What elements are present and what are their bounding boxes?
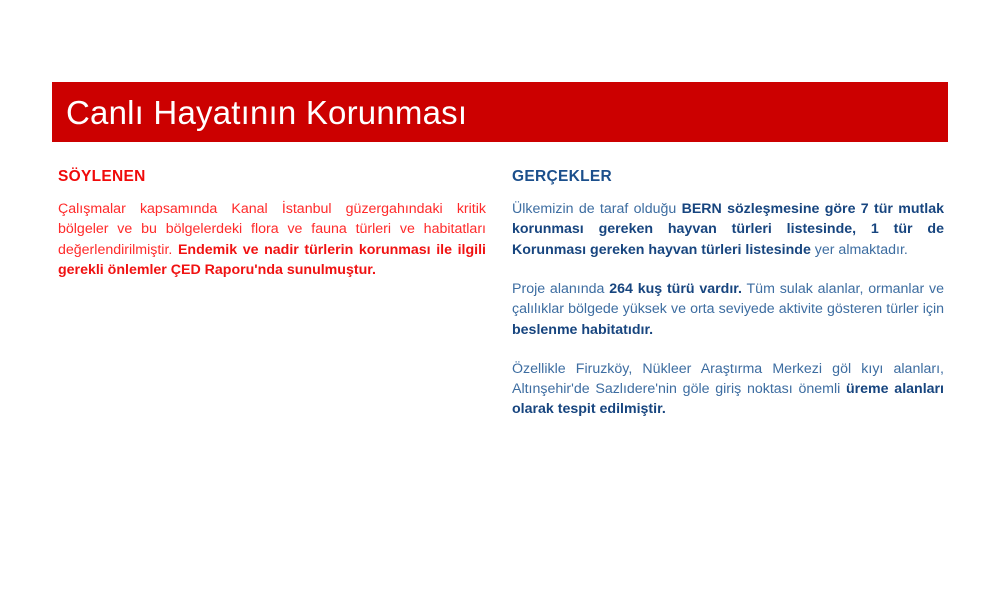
- text-run-bold: beslenme habitatıdır.: [512, 322, 653, 338]
- text-run: yer almaktadır.: [811, 242, 908, 258]
- paragraph: Ülkemizin de taraf olduğu BERN sözleşmes…: [512, 199, 944, 260]
- paragraph: Proje alanında 264 kuş türü vardır. Tüm …: [512, 279, 944, 340]
- column-claim-heading: SÖYLENEN: [58, 168, 486, 185]
- column-facts-heading: GERÇEKLER: [512, 168, 944, 185]
- column-claim-body: Çalışmalar kapsamında Kanal İstanbul güz…: [58, 199, 486, 280]
- paragraph: Özellikle Firuzköy, Nükleer Araştırma Me…: [512, 359, 944, 420]
- column-facts: GERÇEKLER Ülkemizin de taraf olduğu BERN…: [512, 168, 944, 420]
- text-run: Proje alanında: [512, 281, 609, 297]
- slide-canvas: Canlı Hayatının Korunması SÖYLENEN Çalış…: [0, 0, 1000, 600]
- text-run-bold: 264 kuş türü vardır.: [609, 281, 742, 297]
- column-claim: SÖYLENEN Çalışmalar kapsamında Kanal İst…: [58, 168, 486, 280]
- text-run: Ülkemizin de taraf olduğu: [512, 201, 682, 217]
- paragraph: Çalışmalar kapsamında Kanal İstanbul güz…: [58, 199, 486, 280]
- slide-title-bar: Canlı Hayatının Korunması: [52, 82, 948, 142]
- column-facts-body: Ülkemizin de taraf olduğu BERN sözleşmes…: [512, 199, 944, 420]
- slide-title: Canlı Hayatının Korunması: [52, 96, 467, 129]
